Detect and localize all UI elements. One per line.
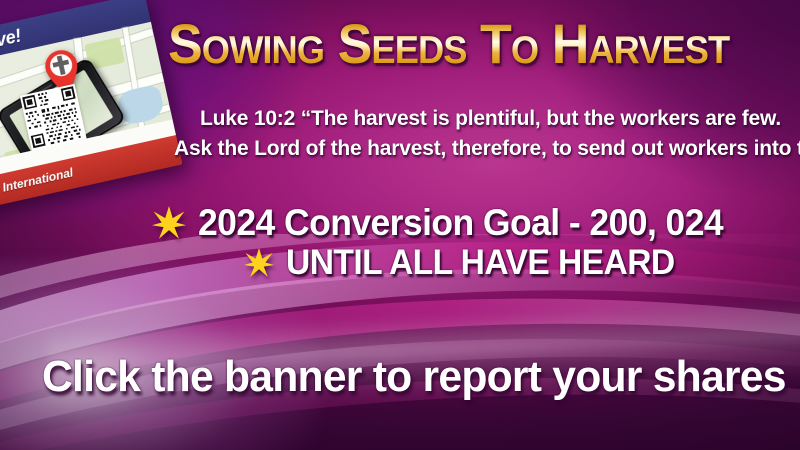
promotional-banner[interactable]: the drive!	[0, 0, 800, 450]
banner-title: Sowing Seeds To Harvest	[168, 16, 800, 72]
six-point-star-icon	[244, 248, 274, 278]
scripture-line-1: Luke 10:2 “The harvest is plentiful, but…	[200, 104, 800, 134]
six-point-star-icon	[152, 206, 186, 240]
scripture-line-2: Ask the Lord of the harvest, therefore, …	[174, 134, 800, 164]
goal-row: UNTIL ALL HAVE HEARD	[244, 245, 800, 282]
call-to-action-text[interactable]: Click the banner to report your shares	[42, 352, 786, 402]
goal-text: UNTIL ALL HAVE HEARD	[286, 245, 675, 282]
scripture-quote: Luke 10:2 “The harvest is plentiful, but…	[200, 104, 800, 164]
goal-text: 2024 Conversion Goal - 200, 024	[198, 204, 723, 243]
goal-row: 2024 Conversion Goal - 200, 024	[152, 204, 800, 243]
goals-list: 2024 Conversion Goal - 200, 024 UNTIL AL…	[152, 204, 800, 284]
